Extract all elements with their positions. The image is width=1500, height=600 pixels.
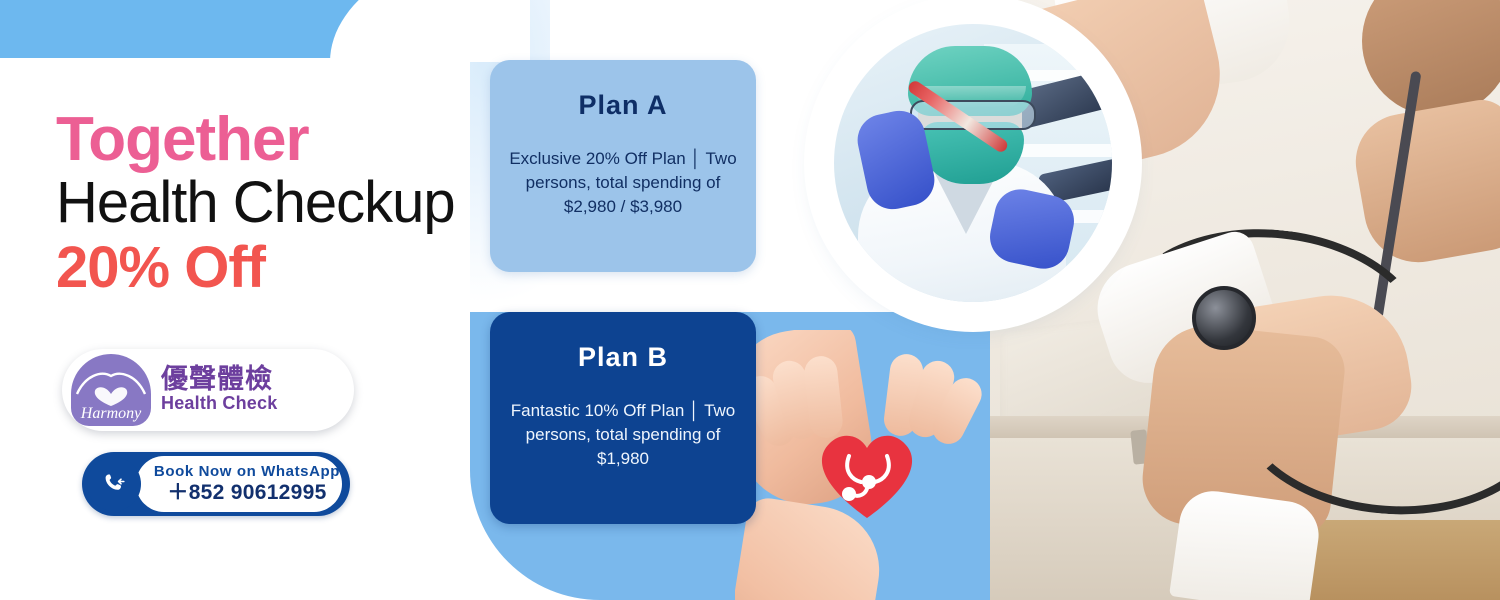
page-title: Together Health Checkup 20% Off <box>56 108 455 300</box>
harmony-emblem-icon: Harmony <box>71 354 151 426</box>
promo-banner: Together Health Checkup 20% Off Harmony … <box>0 0 1500 600</box>
cta-phone-number: ＋852 90612995 <box>149 481 345 505</box>
plan-b-card[interactable]: Plan B Fantastic 10% Off Plan │ Two pers… <box>490 312 756 524</box>
brand-name-block: 優聲體檢 Health Check <box>161 365 277 414</box>
headline-line-1: Together <box>56 108 455 171</box>
whatsapp-booking-button[interactable]: Book Now on WhatsApp ＋852 90612995 <box>82 452 350 516</box>
stethoscope-chestpiece-icon <box>1192 286 1256 350</box>
plan-a-title: Plan A <box>490 90 756 121</box>
lab-technician-image <box>834 24 1112 302</box>
headline-line-2: Health Checkup <box>56 171 455 236</box>
plan-b-title: Plan B <box>490 342 756 373</box>
top-blue-curve <box>330 0 530 60</box>
brand-name-cn: 優聲體檢 <box>161 365 277 393</box>
cta-label: Book Now on WhatsApp <box>149 463 345 480</box>
phone-icon <box>87 457 141 511</box>
plan-a-card[interactable]: Plan A Exclusive 20% Off Plan │ Two pers… <box>490 60 756 272</box>
hands-holding-heart-photo <box>735 330 1005 600</box>
heart-with-stethoscope-icon <box>813 422 921 522</box>
plan-a-description: Exclusive 20% Off Plan │ Two persons, to… <box>490 147 756 219</box>
brand-logo: Harmony 優聲體檢 Health Check <box>62 349 354 431</box>
harmony-emblem-text: Harmony <box>80 405 142 422</box>
whatsapp-button-text: Book Now on WhatsApp ＋852 90612995 <box>149 463 345 505</box>
brand-name-en: Health Check <box>161 393 277 414</box>
top-blue-band <box>0 0 370 58</box>
lab-technician-circle-photo <box>818 8 1128 318</box>
headline-line-3: 20% Off <box>56 236 455 300</box>
plan-b-description: Fantastic 10% Off Plan │ Two persons, to… <box>490 399 756 471</box>
